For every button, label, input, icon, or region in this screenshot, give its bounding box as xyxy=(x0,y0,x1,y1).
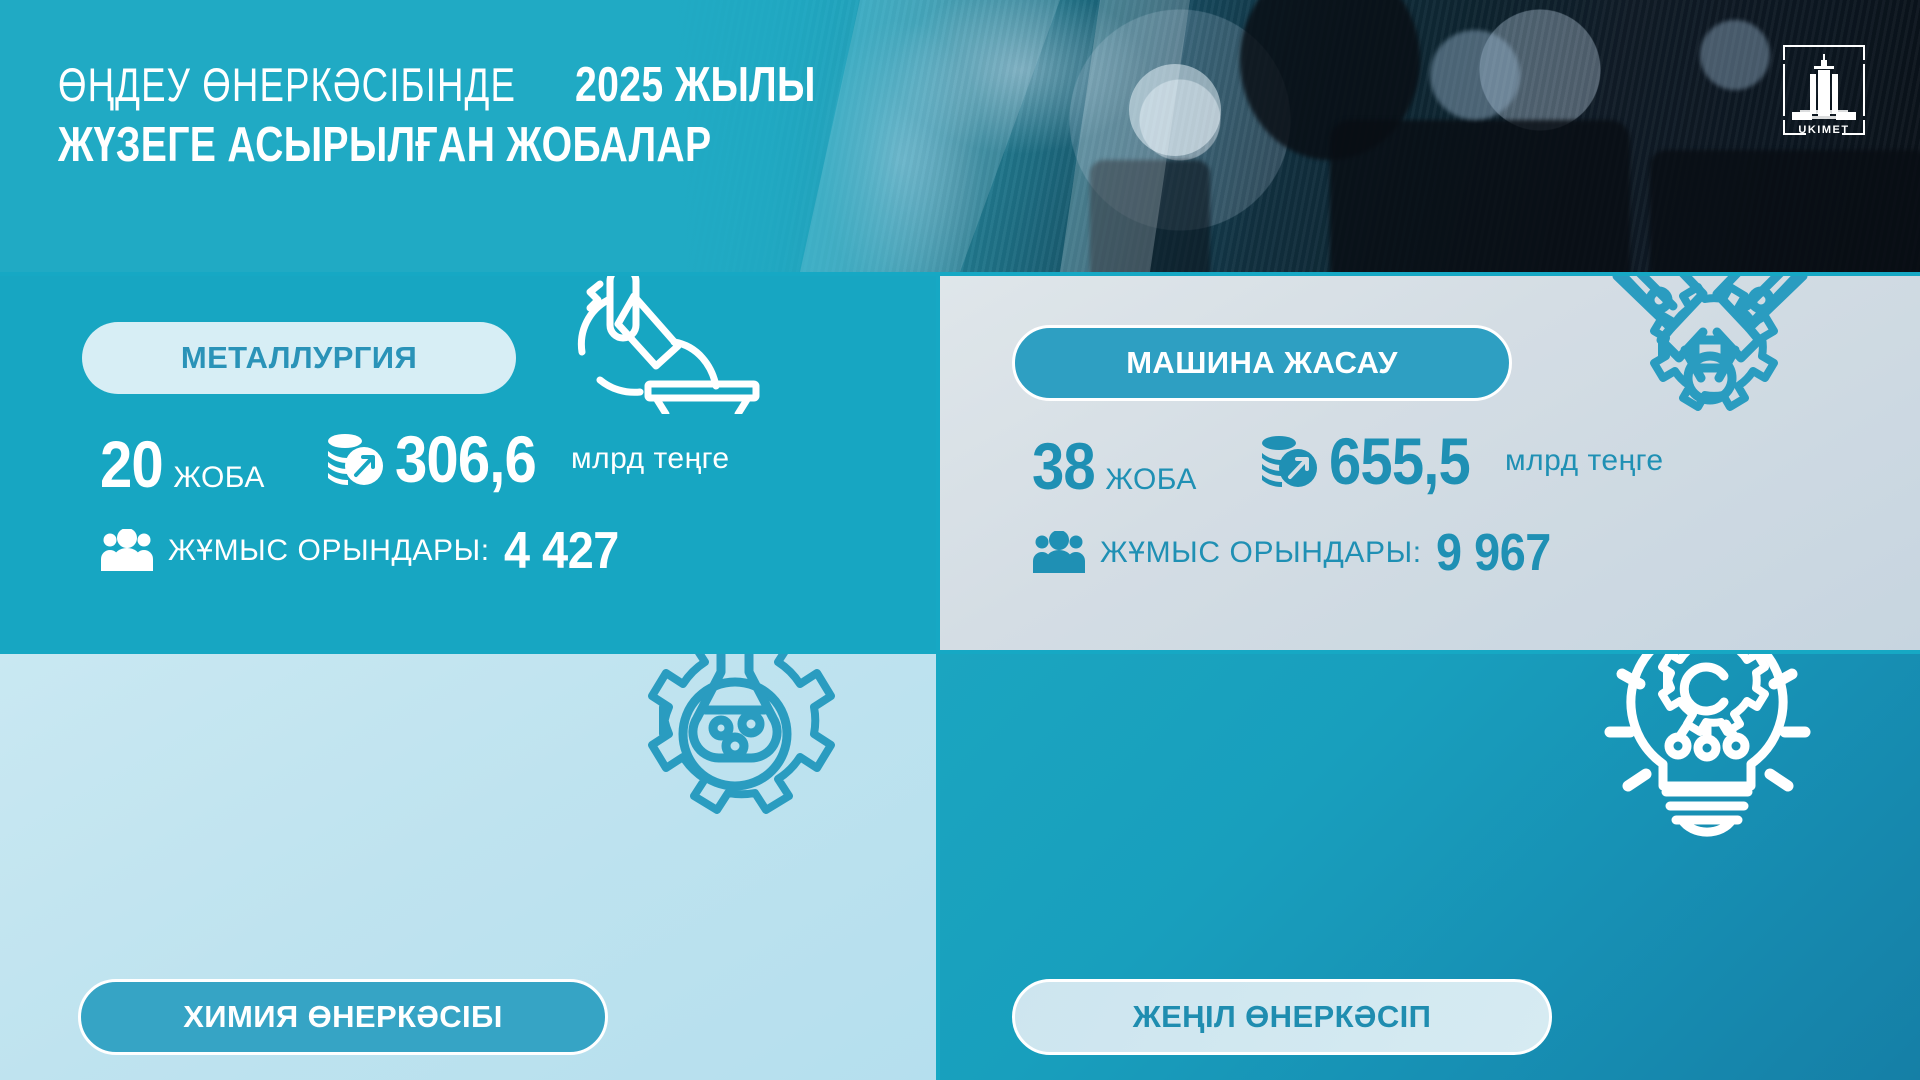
title-line-2: ЖҮЗЕГЕ АСЫРЫЛҒАН ЖОБАЛАР xyxy=(58,114,712,176)
machine-shape xyxy=(1650,150,1920,272)
sector-name: МЕТАЛЛУРГИЯ xyxy=(181,340,417,376)
jobs-count: 4 427 xyxy=(504,525,619,577)
projects-count: 38 xyxy=(1032,433,1095,499)
title-bold-part: 2025 ЖЫЛЫ xyxy=(575,56,816,114)
coins-stack-arrow-icon xyxy=(325,431,387,487)
sector-label-pill: ХИМИЯ ӨНЕРКӘСІБІ xyxy=(78,979,608,1055)
machine-shape xyxy=(1430,30,1520,120)
page-title: ӨҢДЕУ ӨНЕРКӘСІБІНДЕ 2025 ЖЫЛЫ ЖҮЗЕГЕ АСЫ… xyxy=(58,56,876,176)
sector-stats: 38 ЖОБА xyxy=(1032,428,1664,579)
stats-row-jobs: ЖҰМЫС ОРЫНДАРЫ: 9 967 xyxy=(1032,527,1664,579)
sector-label-pill: ЖЕҢІЛ ӨНЕРКӘСІП xyxy=(1012,979,1552,1055)
stats-row-jobs: ЖҰМЫС ОРЫНДАРЫ: 4 427 xyxy=(100,525,730,577)
flask-gear-icon xyxy=(635,654,835,824)
sector-name: МАШИНА ЖАСАУ xyxy=(1126,345,1398,381)
investment-unit: млрд теңге xyxy=(571,438,730,480)
investment-amount: 306,6 xyxy=(395,426,536,492)
ukimet-logo[interactable]: UKIMET xyxy=(1780,42,1868,138)
sector-card-metallurgy: МЕТАЛЛУРГИЯ 20 ЖОБА xyxy=(0,276,936,650)
infographic-poster: ӨҢДЕУ ӨНЕРКӘСІБІНДЕ 2025 ЖЫЛЫ ЖҮЗЕГЕ АСЫ… xyxy=(0,0,1920,1080)
sector-grid: МЕТАЛЛУРГИЯ 20 ЖОБА xyxy=(0,276,1920,1080)
sector-label-pill: МАШИНА ЖАСАУ xyxy=(1012,325,1512,401)
people-group-icon xyxy=(1032,531,1086,575)
projects-unit: ЖОБА xyxy=(173,457,264,499)
investment-unit: млрд теңге xyxy=(1505,440,1664,482)
sector-label-pill: МЕТАЛЛУРГИЯ xyxy=(82,322,516,394)
machine-shape xyxy=(1700,20,1770,90)
header-banner: ӨҢДЕУ ӨНЕРКӘСІБІНДЕ 2025 ЖЫЛЫ ЖҮЗЕГЕ АСЫ… xyxy=(0,0,1920,272)
jobs-label: ЖҰМЫС ОРЫНДАРЫ: xyxy=(168,534,490,568)
title-thin-part: ӨҢДЕУ ӨНЕРКӘСІБІНДЕ xyxy=(58,56,516,114)
coins-stack-arrow-icon xyxy=(1259,433,1321,489)
stats-row-primary: 38 ЖОБА xyxy=(1032,428,1664,501)
stats-row-primary: 20 ЖОБА xyxy=(100,426,730,499)
sector-name: ЖЕҢІЛ ӨНЕРКӘСІП xyxy=(1133,999,1432,1035)
logo-text: UKIMET xyxy=(1798,124,1849,136)
sector-card-light-industry: ЖЕҢІЛ ӨНЕРКӘСІП 13 ЖОБА xyxy=(940,654,1920,1080)
investment-group: 655,5 млрд теңге xyxy=(1259,428,1664,494)
sector-stats: 20 ЖОБА xyxy=(100,426,730,577)
title-line-1: ӨҢДЕУ ӨНЕРКӘСІБІНДЕ 2025 ЖЫЛЫ xyxy=(58,56,876,114)
projects-unit: ЖОБА xyxy=(1105,459,1196,501)
investment-amount: 655,5 xyxy=(1329,428,1470,494)
projects-count: 20 xyxy=(100,431,163,497)
jobs-label: ЖҰМЫС ОРЫНДАРЫ: xyxy=(1100,536,1422,570)
machine-shape xyxy=(1330,120,1630,272)
people-group-icon xyxy=(100,529,154,573)
jobs-count: 9 967 xyxy=(1436,527,1551,579)
pistons-gear-icon xyxy=(1595,276,1825,438)
sector-card-chemical-industry: ХИМИЯ ӨНЕРКӘСІБІ 13 ЖОБА xyxy=(0,654,936,1080)
sector-name: ХИМИЯ ӨНЕРКӘСІБІ xyxy=(183,999,503,1035)
machine-shape xyxy=(1090,160,1210,272)
investment-group: 306,6 млрд теңге xyxy=(325,426,730,492)
lightbulb-gear-icon xyxy=(1600,654,1815,844)
sector-card-machine-building: МАШИНА ЖАСАУ 38 ЖОБА xyxy=(940,276,1920,650)
ladle-pouring-icon xyxy=(570,276,770,414)
